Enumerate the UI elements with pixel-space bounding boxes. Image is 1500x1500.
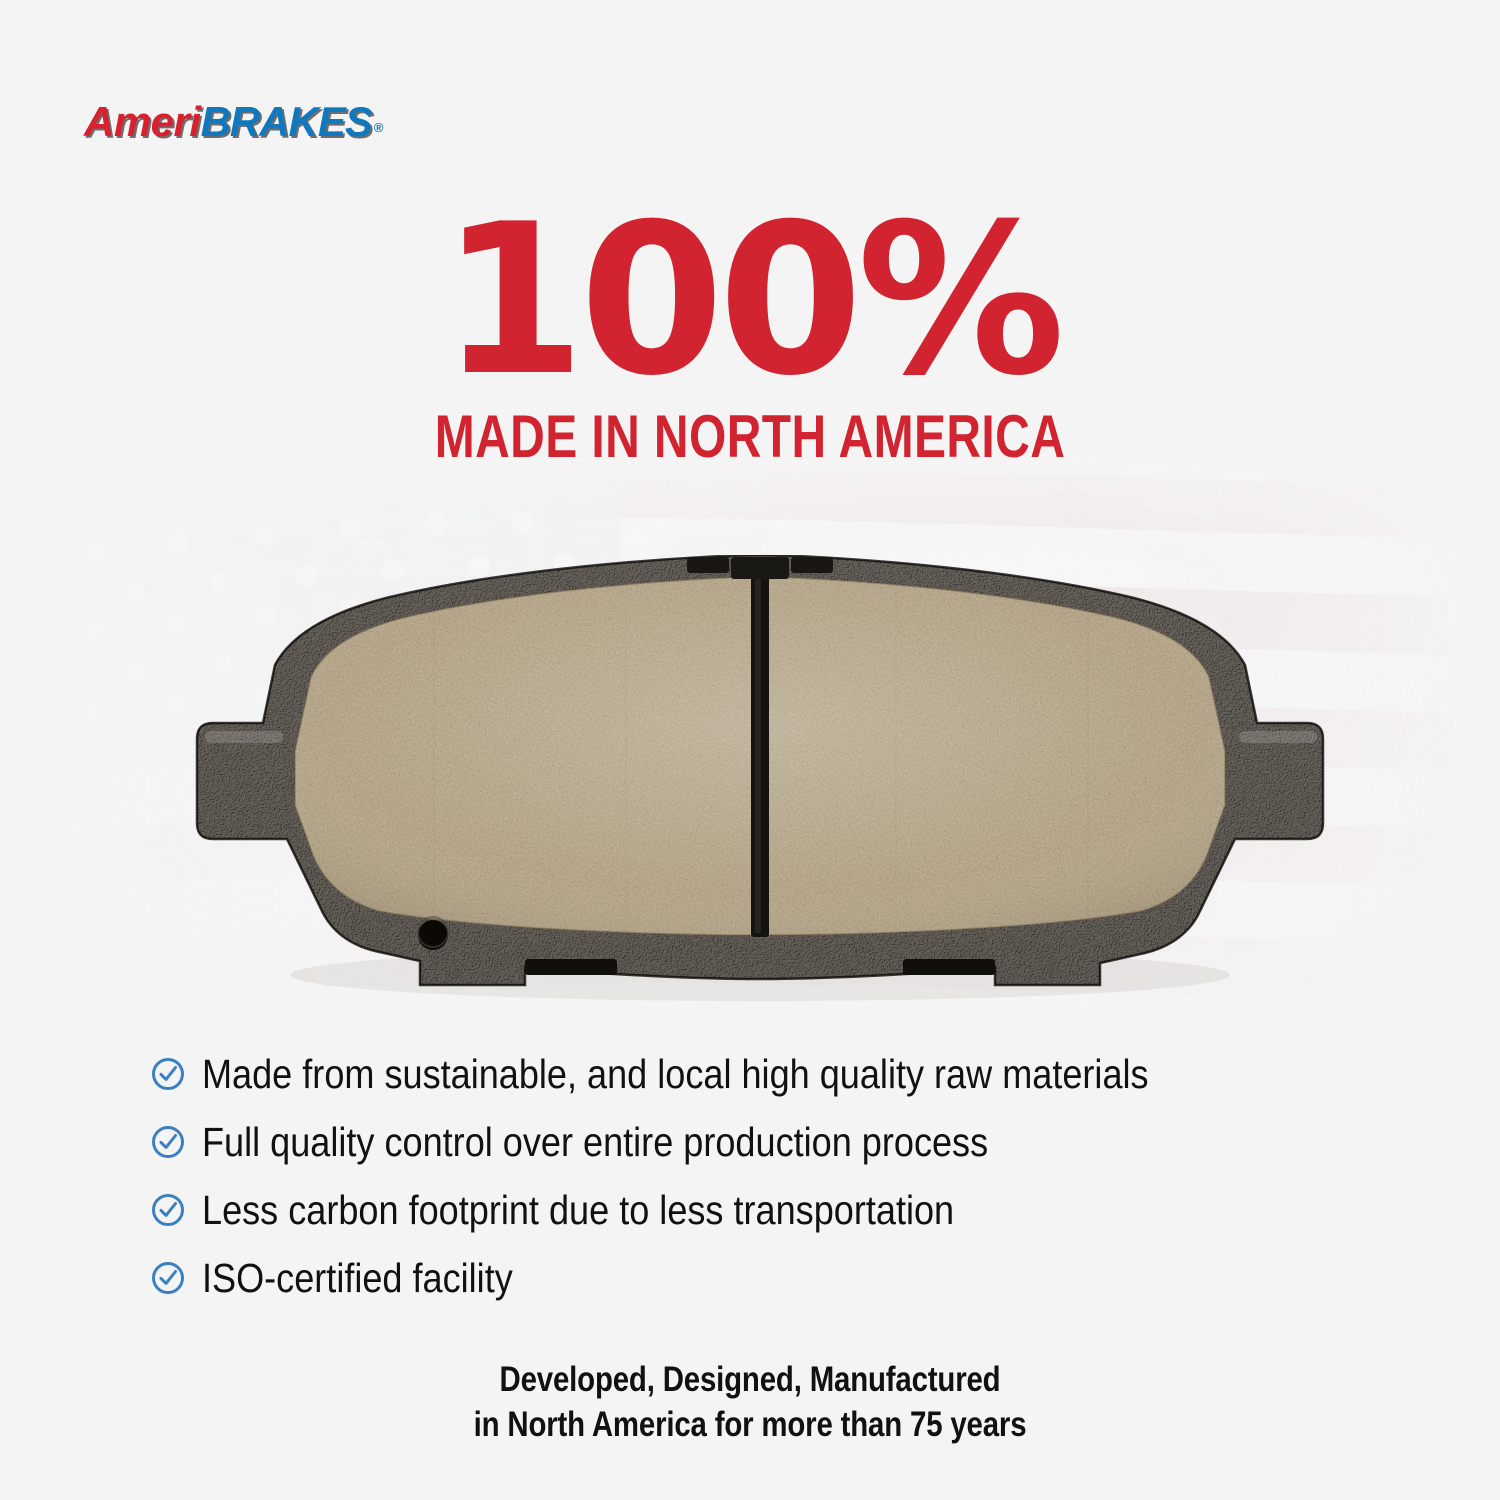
check-circle-icon: [150, 1056, 186, 1092]
list-item: Less carbon footprint due to less transp…: [150, 1176, 1400, 1244]
feature-list: Made from sustainable, and local high qu…: [150, 1040, 1400, 1312]
registered-trademark-icon: ®: [374, 120, 383, 135]
list-item-label: Less carbon footprint due to less transp…: [202, 1190, 954, 1231]
headline-block: 100% MADE IN NORTH AMERICA: [0, 206, 1500, 467]
list-item: ISO-certified facility: [150, 1244, 1400, 1312]
brake-pad-image: [195, 555, 1325, 1005]
logo-text-ameri: Ameri: [84, 98, 201, 145]
list-item-label: Full quality control over entire product…: [202, 1122, 988, 1163]
check-circle-icon: [150, 1192, 186, 1228]
footer-line-2: in North America for more than 75 years: [120, 1403, 1380, 1448]
list-item: Made from sustainable, and local high qu…: [150, 1040, 1400, 1108]
promo-poster: AmeriBRAKES®: [0, 0, 1500, 1500]
list-item-label: ISO-certified facility: [202, 1258, 513, 1299]
check-circle-icon: [150, 1260, 186, 1296]
check-circle-icon: [150, 1124, 186, 1160]
percent-100-text: 100%: [0, 206, 1500, 397]
footer-line-1: Developed, Designed, Manufactured: [120, 1358, 1380, 1403]
made-in-north-america-text: MADE IN NORTH AMERICA: [150, 407, 1350, 467]
logo-text-brakes: BRAKES: [201, 98, 372, 145]
brand-logo[interactable]: AmeriBRAKES®: [84, 101, 383, 143]
brake-pad-sensor-hole: [418, 917, 448, 950]
list-item: Full quality control over entire product…: [150, 1108, 1400, 1176]
list-item-label: Made from sustainable, and local high qu…: [202, 1054, 1149, 1095]
footer-block: Developed, Designed, Manufactured in Nor…: [0, 1358, 1500, 1448]
